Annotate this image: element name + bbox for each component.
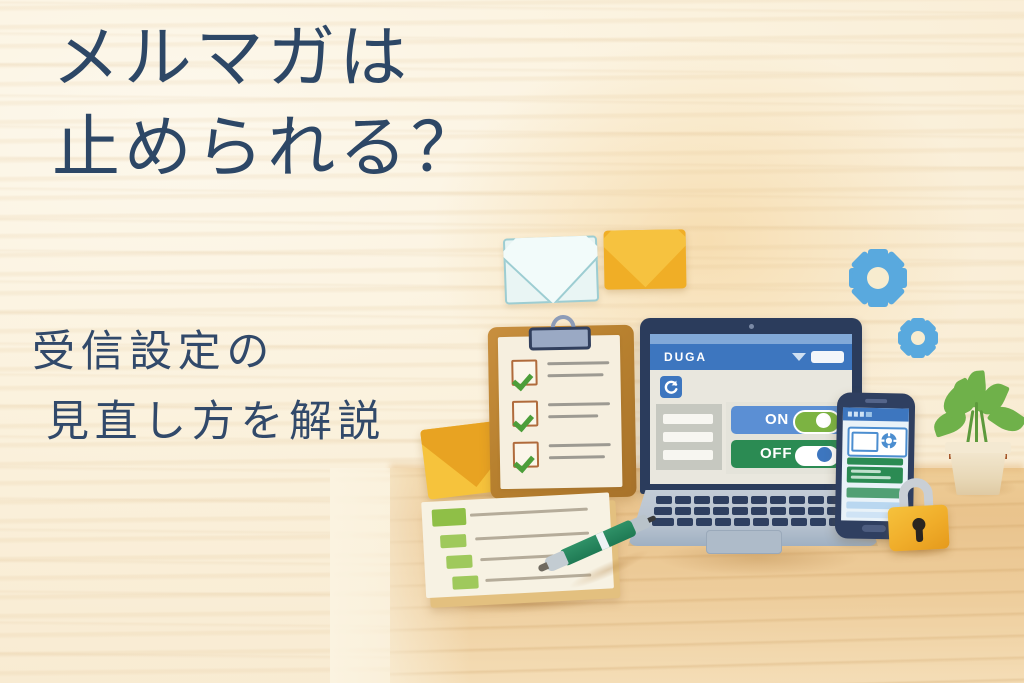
laptop-ui-search-pill[interactable] [811,351,844,363]
toggle-knob-off [817,447,832,462]
chevron-down-icon[interactable] [792,353,806,361]
laptop-keyboard[interactable] [654,496,852,524]
subheadline-line-1: 受信設定の [32,318,492,388]
notepad-tab-3 [446,555,473,569]
headline-line-2: 止められる？ [52,104,572,194]
poster-canvas: メルマガは 止められる？ 受信設定の 見直し方を解説 [0,0,1024,683]
clipboard-checkbox-1[interactable] [511,359,537,385]
sync-refresh-icon[interactable] [660,376,682,398]
padlock-icon [884,476,952,557]
clipboard-checkbox-2[interactable] [512,400,538,426]
laptop-ui-sidebar-row-3 [663,450,713,460]
clipboard [487,309,636,500]
laptop-trackpad[interactable] [706,530,782,554]
clipboard-clip [529,326,591,350]
phone-speaker [865,399,887,403]
toggle-label-on: ON [765,411,789,428]
laptop-ui-sidebar-row-2 [663,432,713,442]
toggle-knob-on [816,413,831,428]
envelope-yellow-top-icon [603,229,686,289]
phone-home-button[interactable] [862,525,886,532]
notepad-tab-2 [440,534,467,548]
laptop-camera [749,324,754,329]
toggle-label-off: OFF [760,445,792,462]
laptop-ui-sidebar-row-1 [663,414,713,424]
laptop-ui-brand: DUGA [664,350,707,364]
gear-small-icon [898,318,938,358]
notepad-tab-1 [432,508,467,527]
headline-block: メルマガは 止められる？ [52,14,572,194]
gear-large-icon [849,249,907,307]
notepad-tab-4 [452,575,479,589]
gear-icon[interactable] [880,432,897,449]
headline-line-1: メルマガは [52,14,572,104]
padlock-keyslot [916,528,924,542]
phone-card-thumb [851,432,878,452]
phone-statusbar [843,407,909,421]
laptop-screen: DUGA ON OFF [650,334,852,484]
clipboard-checkbox-3[interactable] [513,441,539,467]
plant-pot [950,453,1006,495]
phone-row-1-line-a [851,470,881,474]
laptop-ui-topstrip [650,334,852,344]
plant-pot-rim [945,442,1011,454]
phone-row-4 [846,512,890,519]
phone-row-1-header [847,458,903,466]
envelope-white-icon [503,235,599,304]
